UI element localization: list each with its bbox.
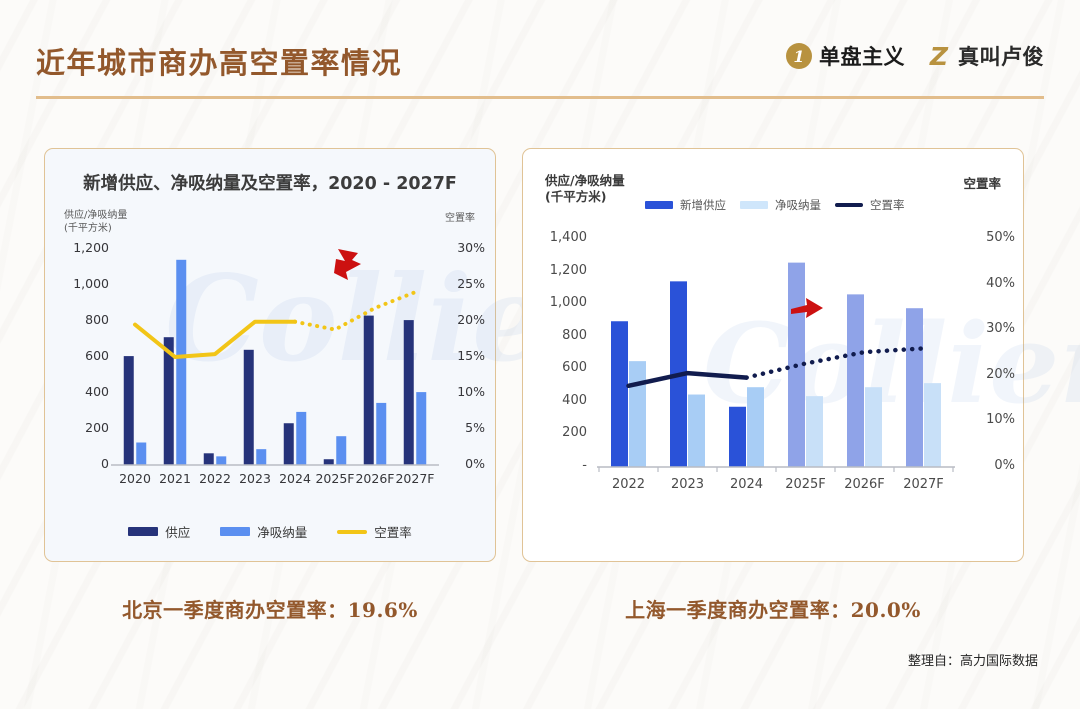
beijing-chart-card: Colliers 新增供应、净吸纳量及空置率，2020 - 2027F 供应/净… [44, 148, 496, 562]
page-title: 近年城市商办高空置率情况 [36, 40, 402, 82]
legend-item-new-supply: 新增供应 [645, 197, 726, 213]
source-note: 整理自：高力国际数据 [908, 650, 1038, 669]
x-axis-tick-label: 2021 [155, 471, 195, 486]
title-divider [36, 96, 1044, 99]
legend-label: 净吸纳量 [775, 197, 821, 213]
bar-净吸纳量-2021 [176, 260, 186, 465]
brand-logos: 1 单盘主义 Z 真叫卢俊 [786, 41, 1044, 71]
brand-label: 真叫卢俊 [958, 41, 1044, 71]
y-axis-tick-label: 800 [57, 312, 109, 327]
brand-zhenjiaolujun: Z 真叫卢俊 [927, 41, 1044, 71]
shanghai-caption: 上海一季度商办空置率：20.0% [522, 594, 1024, 623]
left-axis-caption: 供应/净吸纳量 (千平方米) [545, 173, 625, 205]
bar-新增供应-2027F [906, 308, 923, 467]
beijing-plot-area: 02004006008001,0001,2000%5%10%15%20%25%3… [45, 241, 497, 493]
y2-axis-tick-label: 30% [433, 240, 485, 255]
chart-title: 新增供应、净吸纳量及空置率，2020 - 2027F [45, 170, 495, 195]
legend-label: 空置率 [374, 522, 412, 541]
bar-净吸纳量-2024 [747, 387, 764, 467]
legend-swatch-icon [645, 201, 673, 209]
line-空置率-forecast [747, 348, 924, 377]
bar-净吸纳量-2027F [924, 383, 941, 467]
x-axis-tick-label: 2023 [658, 477, 717, 492]
line-空置率-forecast [295, 292, 415, 329]
shanghai-legend: 新增供应 净吸纳量 空置率 [645, 197, 905, 213]
legend-line-icon [337, 530, 367, 534]
bar-净吸纳量-2025F [806, 396, 823, 467]
y-axis-tick-label: 600 [531, 360, 587, 375]
bar-供应-2020 [124, 356, 134, 465]
y-axis-tick-label: 400 [531, 393, 587, 408]
x-axis-tick-label: 2024 [717, 477, 776, 492]
legend-swatch-icon [740, 201, 768, 209]
annotation-arrow-icon [334, 249, 361, 280]
y2-axis-tick-label: 10% [959, 412, 1015, 427]
x-axis-tick-label: 2022 [195, 471, 235, 486]
slide-page: 近年城市商办高空置率情况 1 单盘主义 Z 真叫卢俊 Colliers 新增供应… [0, 0, 1080, 709]
beijing-caption: 北京一季度商办空置率：19.6% [44, 594, 496, 623]
legend-label: 净吸纳量 [257, 522, 307, 541]
y-axis-tick-label: 1,000 [57, 276, 109, 291]
x-axis-tick-label: 2026F [835, 477, 894, 492]
bar-净吸纳量-2023 [688, 395, 705, 467]
bar-新增供应-2022 [611, 321, 628, 467]
y-axis-tick-label: 1,400 [531, 230, 587, 245]
legend-item-vacancy: 空置率 [835, 197, 905, 213]
legend-item-vacancy: 空置率 [337, 522, 412, 541]
y-axis-tick-label: 1,200 [531, 263, 587, 278]
x-axis-tick-label: 2027F [395, 471, 435, 486]
x-axis-tick-label: 2024 [275, 471, 315, 486]
y-axis-tick-label: 800 [531, 328, 587, 343]
letter-z-logo-icon: Z [927, 43, 951, 69]
y2-axis-tick-label: 10% [433, 384, 485, 399]
y-axis-tick-label: 200 [531, 425, 587, 440]
legend-item-supply: 供应 [128, 522, 190, 541]
axis-caption-line2: (千平方米) [64, 222, 127, 235]
line-空置率-actual [629, 373, 747, 386]
right-axis-caption: 空置率 [445, 209, 475, 224]
y2-axis-tick-label: 20% [959, 367, 1015, 382]
bar-净吸纳量-2026F [376, 403, 386, 465]
legend-label: 空置率 [870, 197, 905, 213]
line-空置率-actual [135, 322, 295, 357]
x-axis-tick-label: 2025F [315, 471, 355, 486]
legend-item-absorption: 净吸纳量 [220, 522, 307, 541]
y-axis-tick-label: 400 [57, 384, 109, 399]
legend-label: 新增供应 [680, 197, 726, 213]
y2-axis-tick-label: 0% [433, 456, 485, 471]
shanghai-chart-card: Colliers 供应/净吸纳量 (千平方米) 空置率 新增供应 净吸纳量 空置… [522, 148, 1024, 562]
shanghai-plot-area: -2004006008001,0001,2001,4000%10%20%30%4… [523, 231, 1025, 503]
bar-净吸纳量-2020 [136, 443, 146, 466]
legend-item-absorption: 净吸纳量 [740, 197, 821, 213]
y2-axis-tick-label: 30% [959, 321, 1015, 336]
axis-caption-line2: (千平方米) [545, 189, 625, 205]
bar-供应-2025F [324, 459, 334, 465]
x-axis-tick-label: 2020 [115, 471, 155, 486]
y-axis-tick-label: 1,000 [531, 295, 587, 310]
bar-供应-2027F [404, 320, 414, 465]
beijing-legend: 供应 净吸纳量 空置率 [45, 522, 495, 541]
y2-axis-tick-label: 40% [959, 276, 1015, 291]
legend-swatch-icon [128, 527, 158, 536]
left-plot-svg [45, 241, 497, 493]
bar-净吸纳量-2025F [336, 436, 346, 465]
x-axis-tick-label: 2025F [776, 477, 835, 492]
bar-净吸纳量-2027F [416, 392, 426, 465]
left-axis-caption: 供应/净吸纳量 (千平方米) [64, 209, 127, 235]
y-axis-tick-label: 1,200 [57, 240, 109, 255]
bar-供应-2026F [364, 316, 374, 465]
bar-新增供应-2026F [847, 294, 864, 467]
right-plot-svg [523, 231, 1025, 503]
x-axis-tick-label: 2027F [894, 477, 953, 492]
y2-axis-tick-label: 25% [433, 276, 485, 291]
y2-axis-tick-label: 50% [959, 230, 1015, 245]
legend-swatch-icon [220, 527, 250, 536]
y2-axis-tick-label: 5% [433, 420, 485, 435]
bar-净吸纳量-2023 [256, 449, 266, 465]
bar-净吸纳量-2022 [629, 361, 646, 467]
y2-axis-tick-label: 15% [433, 348, 485, 363]
bar-净吸纳量-2022 [216, 456, 226, 465]
bar-净吸纳量-2026F [865, 387, 882, 467]
y-axis-tick-label: 200 [57, 420, 109, 435]
bar-供应-2024 [284, 423, 294, 465]
x-axis-tick-label: 2026F [355, 471, 395, 486]
brand-label: 单盘主义 [819, 41, 905, 71]
axis-caption-line1: 供应/净吸纳量 [64, 209, 127, 222]
legend-label: 供应 [165, 522, 190, 541]
y-axis-tick-label: 600 [57, 348, 109, 363]
y-axis-tick-label: - [531, 458, 587, 473]
y-axis-tick-label: 0 [57, 456, 109, 471]
page-header: 近年城市商办高空置率情况 1 单盘主义 Z 真叫卢俊 [0, 40, 1080, 112]
right-axis-caption: 空置率 [963, 173, 1001, 192]
bar-供应-2022 [204, 453, 214, 465]
axis-caption-line1: 供应/净吸纳量 [545, 173, 625, 189]
circle-one-logo-icon: 1 [786, 43, 812, 69]
y2-axis-tick-label: 0% [959, 458, 1015, 473]
bar-新增供应-2024 [729, 407, 746, 467]
legend-line-icon [835, 203, 863, 207]
brand-danpanzhuyi: 1 单盘主义 [786, 41, 905, 71]
bar-净吸纳量-2024 [296, 412, 306, 465]
bar-供应-2023 [244, 350, 254, 465]
x-axis-tick-label: 2023 [235, 471, 275, 486]
x-axis-tick-label: 2022 [599, 477, 658, 492]
y2-axis-tick-label: 20% [433, 312, 485, 327]
